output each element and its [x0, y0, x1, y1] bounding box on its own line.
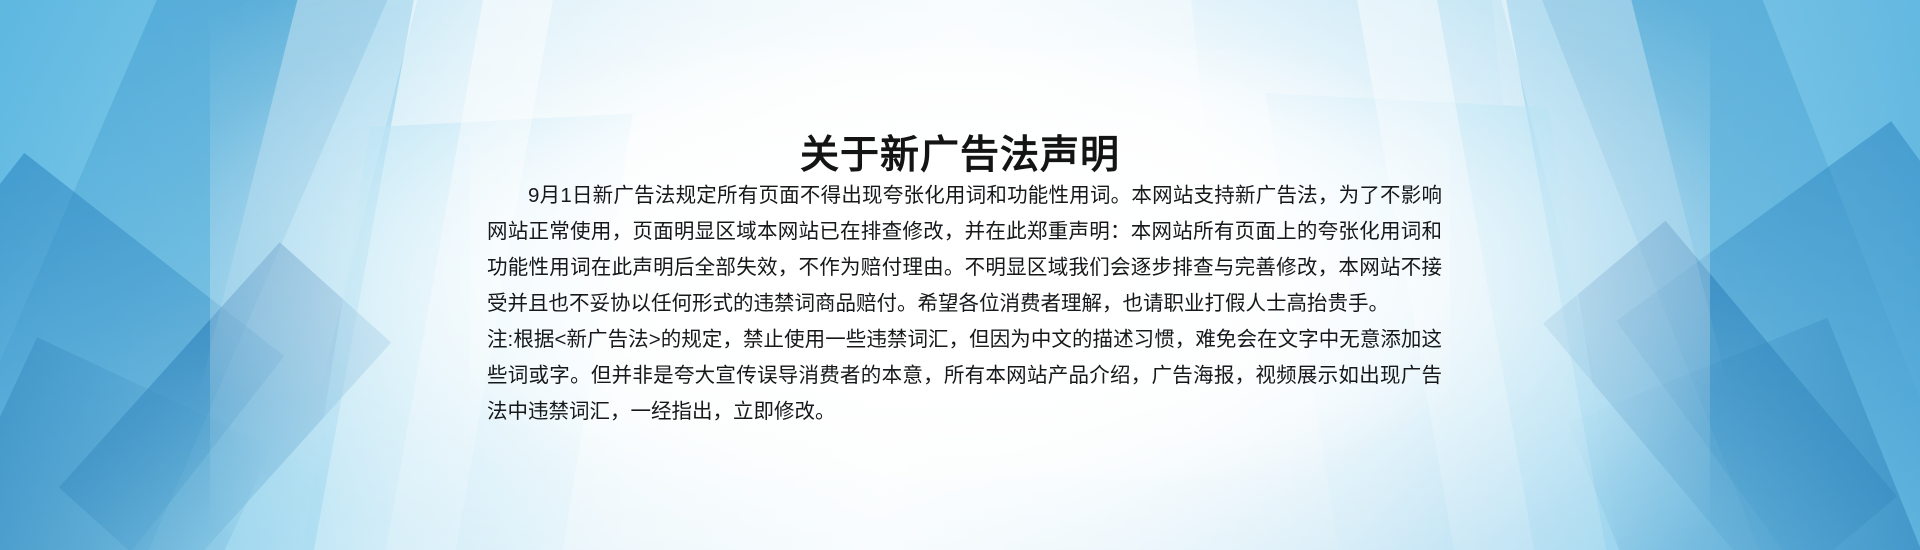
advertising-law-statement-banner: 关于新广告法声明 9月1日新广告法规定所有页面不得出现夸张化用词和功能性用词。本… [0, 0, 1920, 550]
statement-paragraph-2: 注:根据<新广告法>的规定，禁止使用一些违禁词汇，但因为中文的描述习惯，难免会在… [487, 322, 1442, 430]
statement-paragraph-1: 9月1日新广告法规定所有页面不得出现夸张化用词和功能性用词。本网站支持新广告法，… [487, 178, 1442, 322]
statement-body: 9月1日新广告法规定所有页面不得出现夸张化用词和功能性用词。本网站支持新广告法，… [487, 178, 1442, 430]
page-title: 关于新广告法声明 [0, 134, 1920, 179]
statement-content: 关于新广告法声明 9月1日新广告法规定所有页面不得出现夸张化用词和功能性用词。本… [0, 0, 1920, 550]
